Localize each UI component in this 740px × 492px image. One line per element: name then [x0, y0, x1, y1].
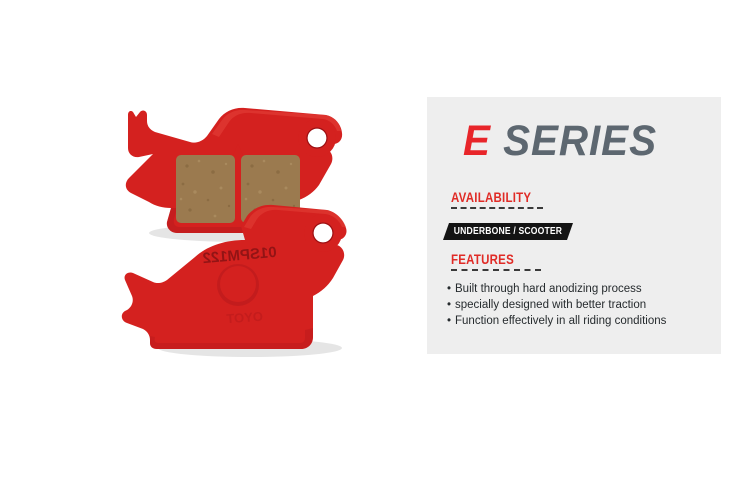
page-title: E SERIES: [463, 120, 657, 163]
list-item: •Function effectively in all riding cond…: [447, 313, 709, 329]
bullet-icon: •: [447, 313, 455, 329]
features-section: FEATURES: [451, 252, 541, 271]
series-word: SERIES: [503, 117, 657, 165]
spec-panel: E SERIES AVAILABILITY UNDERBONE / SCOOTE…: [427, 97, 721, 354]
feature-text: Function effectively in all riding condi…: [455, 315, 666, 327]
brake-pad-photo: 01SPM122 TOYO: [95, 100, 385, 365]
pad-lower-emboss: TOYO: [226, 309, 264, 327]
availability-section: AVAILABILITY: [451, 190, 549, 209]
product-image-area: 01SPM122 TOYO: [0, 0, 427, 492]
availability-tag-label: UNDERBONE / SCOOTER: [452, 223, 564, 240]
list-item: •specially designed with better traction: [447, 297, 709, 313]
bullet-icon: •: [447, 281, 455, 297]
features-divider: [451, 269, 541, 271]
feature-text: Built through hard anodizing process: [455, 283, 642, 295]
availability-divider: [451, 207, 543, 209]
availability-heading: AVAILABILITY: [451, 190, 531, 204]
feature-text: specially designed with better traction: [455, 299, 646, 311]
bullet-icon: •: [447, 297, 455, 313]
brake-pad-backing-side: 01SPM122 TOYO: [95, 100, 385, 365]
series-letter: E: [463, 117, 491, 165]
features-heading: FEATURES: [451, 252, 525, 266]
list-item: •Built through hard anodizing process: [447, 281, 709, 297]
backing-plate-boss-inner: [220, 266, 256, 302]
features-list: •Built through hard anodizing process •s…: [447, 281, 709, 329]
availability-tag: UNDERBONE / SCOOTER: [443, 223, 573, 240]
